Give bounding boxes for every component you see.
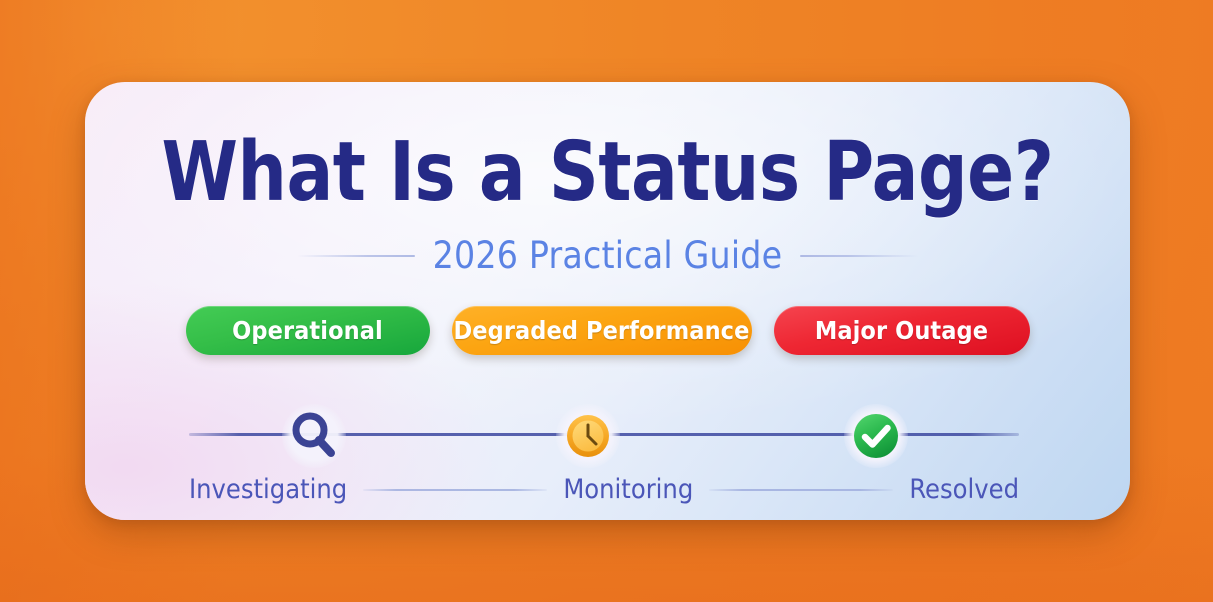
subtitle-rule-left <box>297 255 415 257</box>
subtitle-row: 2026 Practical Guide <box>85 234 1130 277</box>
status-page-card: What Is a Status Page? 2026 Practical Gu… <box>85 82 1130 520</box>
page-title: What Is a Status Page? <box>116 132 1098 214</box>
card-content: What Is a Status Page? 2026 Practical Gu… <box>85 82 1130 520</box>
timeline-label-connector-1 <box>363 489 547 491</box>
timeline-label-monitoring: Monitoring <box>563 474 693 505</box>
status-badge-degraded-performance[interactable]: Degraded Performance <box>452 306 752 355</box>
timeline-node-resolved[interactable] <box>848 408 904 464</box>
poster-stage: What Is a Status Page? 2026 Practical Gu… <box>0 0 1213 602</box>
timeline-label-investigating: Investigating <box>189 474 347 505</box>
status-badge-major-outage[interactable]: Major Outage <box>774 306 1030 355</box>
status-badge-group: Operational Degraded Performance Major O… <box>85 306 1130 355</box>
timeline-label-resolved: Resolved <box>909 474 1019 505</box>
incident-timeline: Investigating Monitoring Resolved <box>189 400 1019 500</box>
check-circle-icon <box>848 408 904 464</box>
timeline-node-monitoring[interactable] <box>560 408 616 464</box>
magnifier-icon <box>286 408 342 464</box>
timeline-label-connector-2 <box>709 489 893 491</box>
timeline-step-labels: Investigating Monitoring Resolved <box>189 474 1019 505</box>
subtitle-rule-right <box>800 255 918 257</box>
timeline-node-investigating[interactable] <box>286 408 342 464</box>
status-badge-operational[interactable]: Operational <box>186 306 430 355</box>
clock-icon <box>560 408 616 464</box>
page-subtitle: 2026 Practical Guide <box>433 234 783 277</box>
